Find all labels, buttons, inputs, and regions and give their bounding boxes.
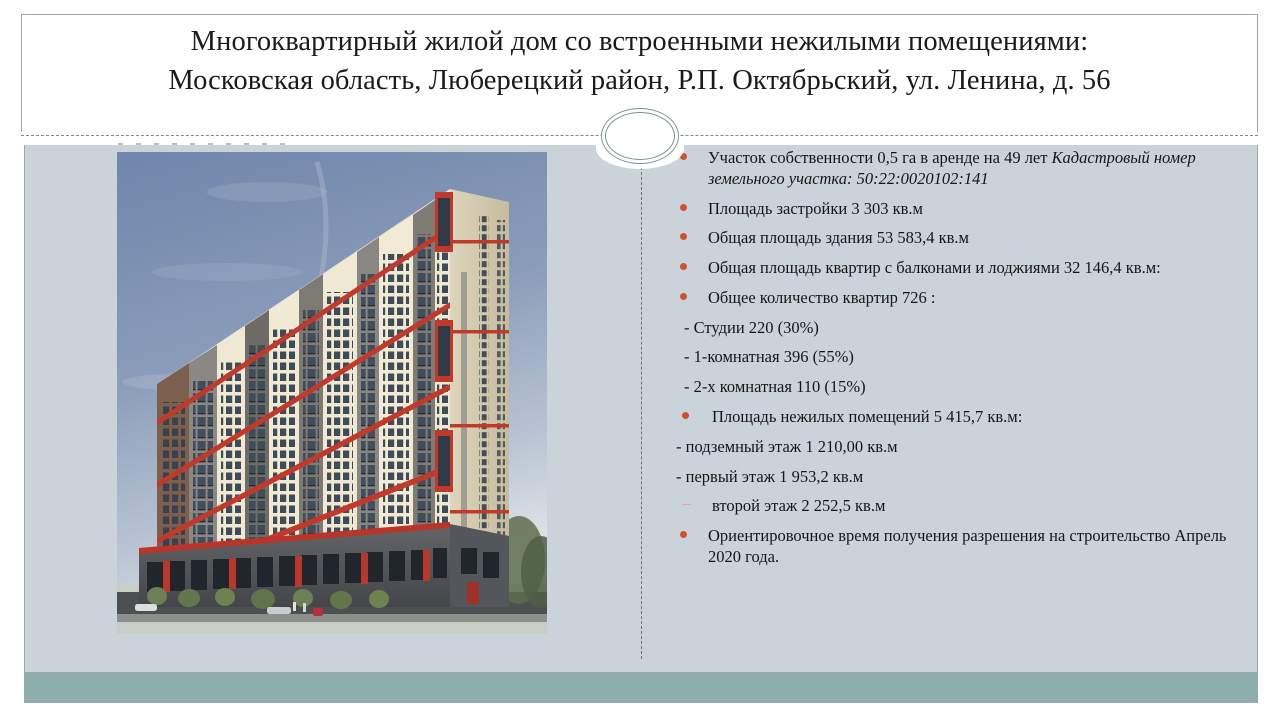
title-line-1: Многоквартирный жилой дом со встроенными… bbox=[21, 22, 1258, 61]
list-item-label: Площадь застройки 3 303 кв.м bbox=[708, 199, 1236, 220]
list-item: Общее количество квартир 726 : bbox=[676, 288, 1236, 309]
bullet-dot-icon bbox=[676, 526, 708, 547]
list-item-label: Общая площадь квартир с балконами и лодж… bbox=[708, 258, 1236, 279]
bullet-dot-icon bbox=[676, 258, 708, 279]
bullet-dot-icon bbox=[676, 199, 708, 220]
bullet-list: Участок собственности 0,5 га в аренде на… bbox=[676, 148, 1236, 577]
list-item: Ориентировочное время получения разрешен… bbox=[676, 526, 1236, 568]
decorative-circle-icon bbox=[601, 108, 679, 164]
list-item-sub: - подземный этаж 1 210,00 кв.м bbox=[676, 437, 1236, 458]
bullet-dot-icon bbox=[676, 228, 708, 249]
title-line-2: Московская область, Люберецкий район, Р.… bbox=[21, 61, 1258, 100]
list-item-sub: - Студии 220 (30%) bbox=[676, 318, 1236, 339]
list-item-sub: - 2-х комнатная 110 (15%) bbox=[676, 377, 1236, 398]
bullet-dot-icon bbox=[676, 288, 708, 309]
list-item-label: Участок собственности 0,5 га в аренде на… bbox=[708, 148, 1236, 190]
slide: Многоквартирный жилой дом со встроенными… bbox=[0, 0, 1280, 720]
list-item-label: Общее количество квартир 726 : bbox=[708, 288, 1236, 309]
list-item-label: Ориентировочное время получения разрешен… bbox=[708, 526, 1236, 568]
list-item-text: Участок собственности 0,5 га в аренде на… bbox=[708, 148, 1052, 167]
list-item: Общая площадь квартир с балконами и лодж… bbox=[676, 258, 1236, 279]
bullet-dot-icon bbox=[676, 407, 708, 428]
bullet-dash-icon bbox=[676, 496, 708, 517]
list-item: Общая площадь здания 53 583,4 кв.м bbox=[676, 228, 1236, 249]
image-guide-ticks bbox=[118, 143, 318, 147]
page-title: Многоквартирный жилой дом со встроенными… bbox=[21, 22, 1258, 101]
list-item-label: Общая площадь здания 53 583,4 кв.м bbox=[708, 228, 1236, 249]
list-item-label: Площадь нежилых помещений 5 415,7 кв.м: bbox=[708, 407, 1236, 428]
list-item: Площадь застройки 3 303 кв.м bbox=[676, 199, 1236, 220]
list-item: Участок собственности 0,5 га в аренде на… bbox=[676, 148, 1236, 190]
list-item-sub: - 1-комнатная 396 (55%) bbox=[676, 347, 1236, 368]
list-item: второй этаж 2 252,5 кв.м bbox=[676, 496, 1236, 517]
footer-bar bbox=[24, 672, 1258, 703]
building-render-image[interactable] bbox=[117, 152, 547, 634]
column-divider bbox=[641, 167, 642, 659]
list-item: Площадь нежилых помещений 5 415,7 кв.м: bbox=[676, 407, 1236, 428]
list-item-sub: - первый этаж 1 953,2 кв.м bbox=[676, 467, 1236, 488]
list-item-label: второй этаж 2 252,5 кв.м bbox=[708, 496, 1236, 517]
